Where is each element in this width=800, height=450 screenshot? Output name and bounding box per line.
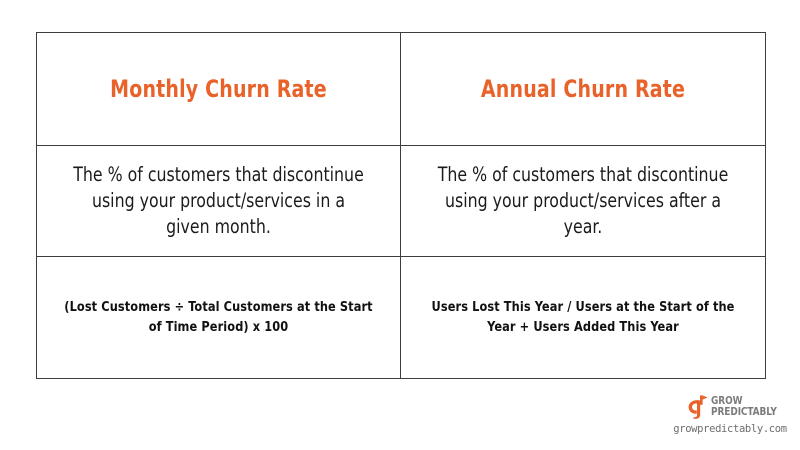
churn-rate-comparison-table: Monthly Churn Rate Annual Churn Rate The… [36,32,766,379]
annual-churn-rate-title: Annual Churn Rate [435,76,731,102]
brand-url: growpredictably.com [670,423,790,435]
table-formula-row: (Lost Customers ÷ Total Customers at the… [37,257,766,379]
table-cell-monthly-description: The % of customers that discontinue usin… [37,146,401,257]
table-cell-monthly-formula: (Lost Customers ÷ Total Customers at the… [37,257,401,379]
monthly-churn-rate-formula: (Lost Customers ÷ Total Customers at the… [63,298,375,337]
lowercase-g-logo-icon [687,395,708,419]
brand-watermark: GROW PREDICTABLY growpredictably.com [670,393,790,445]
brand-word-grow: GROW [711,396,777,407]
annual-churn-rate-description: The % of customers that discontinue usin… [432,162,734,240]
table-cell-annual-formula: Users Lost This Year / Users at the Star… [401,257,766,379]
table-description-row: The % of customers that discontinue usin… [37,146,766,257]
table-cell-annual-description: The % of customers that discontinue usin… [401,146,766,257]
table-cell-monthly-title: Monthly Churn Rate [37,33,401,146]
brand-wordmark: GROW PREDICTABLY [711,396,780,418]
diagram-canvas: Monthly Churn Rate Annual Churn Rate The… [0,0,800,450]
monthly-churn-rate-description: The % of customers that discontinue usin… [68,162,370,240]
table-header-row: Monthly Churn Rate Annual Churn Rate [37,33,766,146]
table-cell-annual-title: Annual Churn Rate [401,33,766,146]
brand-word-predictably: PREDICTABLY [711,407,777,418]
brand-lockup: GROW PREDICTABLY [670,393,790,420]
monthly-churn-rate-title: Monthly Churn Rate [71,76,366,102]
annual-churn-rate-formula: Users Lost This Year / Users at the Star… [427,298,739,337]
